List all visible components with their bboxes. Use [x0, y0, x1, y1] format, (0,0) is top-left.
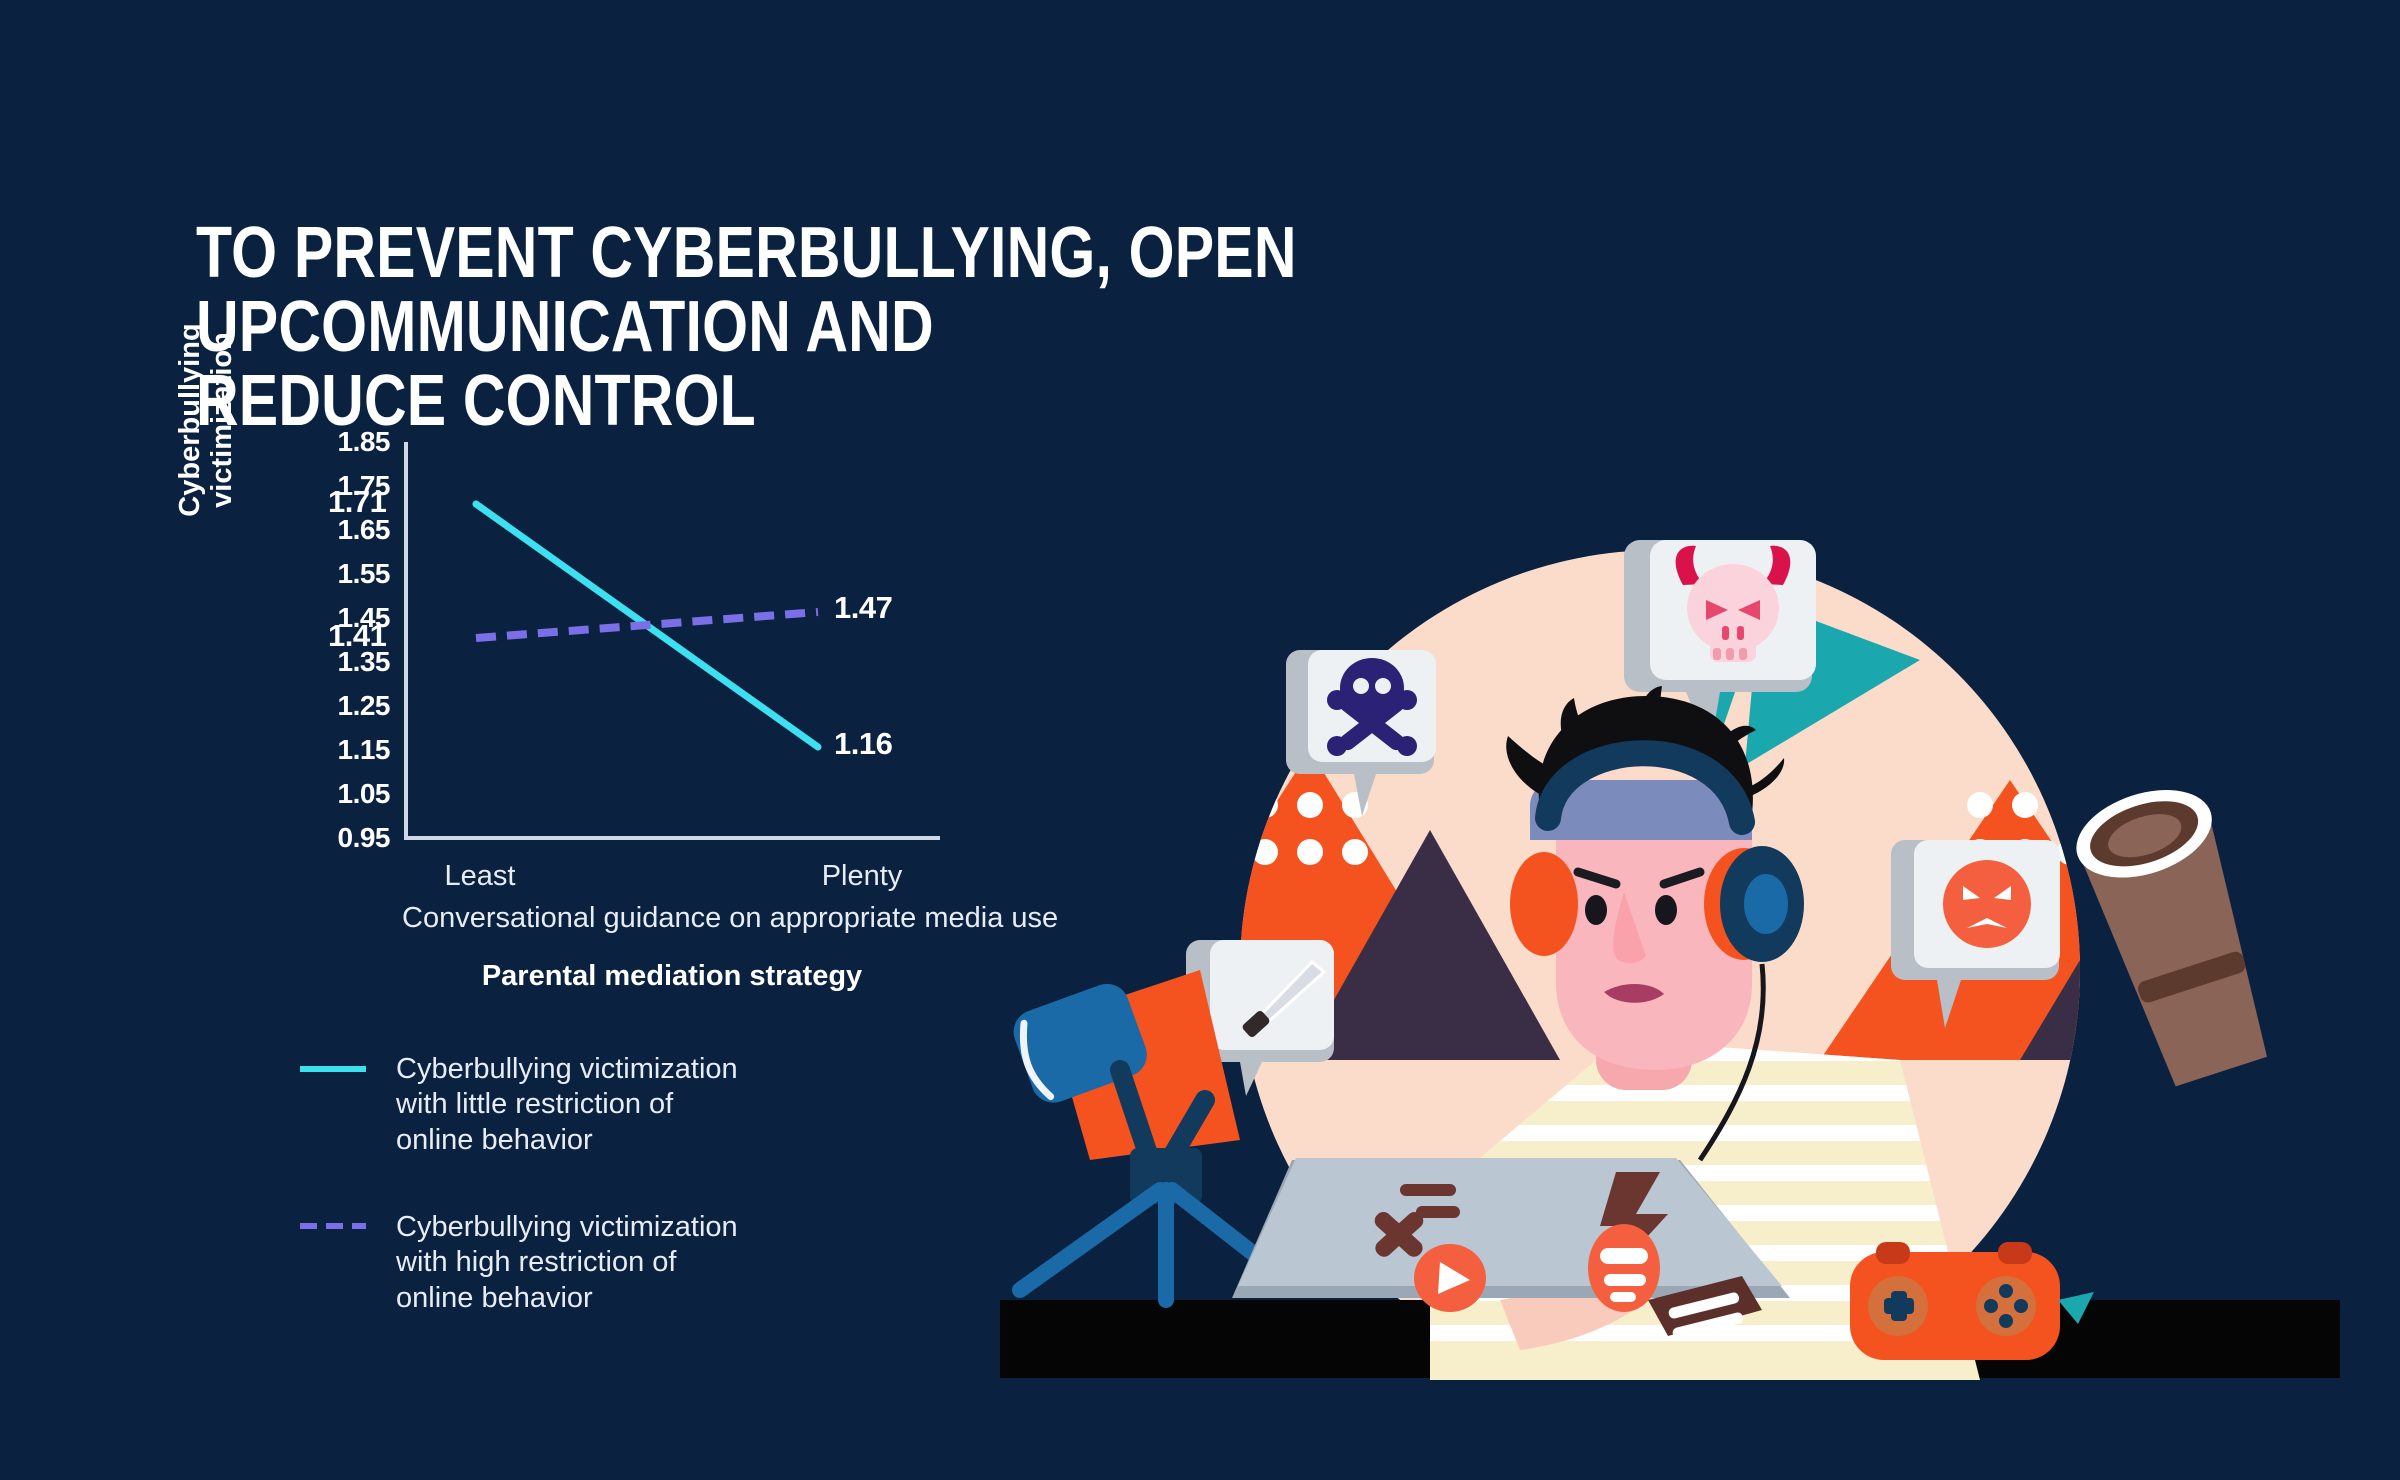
wire-right [2120, 500, 2138, 670]
page-title: TO PREVENT CYBERBULLYING, OPEN UPCOMMUNI… [196, 216, 1803, 438]
legend-swatch-solid-icon [300, 1066, 366, 1072]
series-line-dashed [476, 612, 818, 638]
y-tick: 1.15 [284, 734, 390, 766]
plot-area: 1.71 1.41 1.47 1.16 Least Plenty Convers… [404, 442, 940, 840]
y-tick: 1.85 [284, 426, 390, 458]
y-tick: 0.95 [284, 822, 390, 854]
angry-face-icon [1943, 860, 2031, 948]
lamp-shade [2104, 682, 2156, 718]
data-label-1-41: 1.41 [328, 618, 386, 654]
y-tick: 1.05 [284, 778, 390, 810]
striped-wrap [2172, 1060, 2320, 1226]
eye-left [1585, 895, 1607, 925]
x-tick-label-plenty: Plenty [752, 860, 972, 893]
illustration-svg [1000, 500, 2340, 1380]
legend-swatch-dashed-icon [300, 1223, 366, 1231]
x-axis-title: Conversational guidance on appropriate m… [402, 902, 942, 935]
y-tick: 1.25 [284, 690, 390, 722]
eye-right [1655, 895, 1677, 925]
legend-item-solid: Cyberbullying victimization with little … [300, 1052, 940, 1162]
chart-legend: Cyberbullying victimization with little … [300, 1052, 940, 1368]
infographic-canvas: TO PREVENT CYBERBULLYING, OPEN UPCOMMUNI… [0, 0, 2400, 1480]
x-axis-subtitle: Parental mediation strategy [402, 960, 942, 993]
data-label-1-47: 1.47 [834, 590, 892, 626]
wire-left [1000, 500, 1077, 840]
data-label-1-16: 1.16 [834, 726, 892, 762]
illustration [1000, 500, 2340, 1380]
legend-label: Cyberbullying victimization with high re… [396, 1210, 940, 1316]
x-tick-label-least: Least [370, 860, 590, 893]
y-tick: 1.55 [284, 558, 390, 590]
data-label-1-71: 1.71 [328, 484, 386, 520]
legend-item-dashed: Cyberbullying victimization with high re… [300, 1210, 940, 1320]
lamp-cone [2074, 706, 2186, 800]
series-lines [404, 442, 940, 840]
y-axis-title: Cyberbullying victimization [174, 290, 239, 550]
coffee-cup [2065, 774, 2288, 1093]
legend-label: Cyberbullying victimization with little … [396, 1052, 940, 1158]
